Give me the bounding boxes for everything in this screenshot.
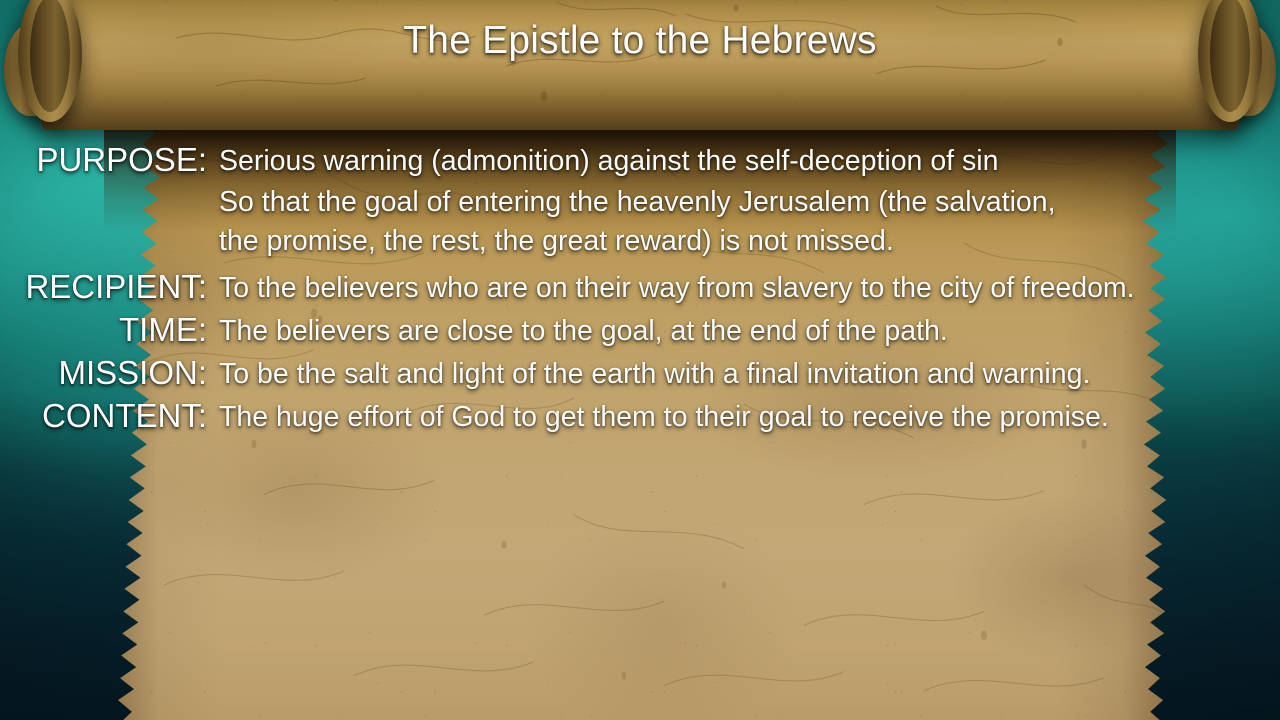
row-body-line: Serious warning (admonition) against the… bbox=[219, 142, 1240, 181]
row-purpose-continued: So that the goal of entering the heavenl… bbox=[0, 183, 1280, 261]
row-body-recipient: To the believers who are on their way fr… bbox=[216, 269, 1280, 308]
slide-title: The Epistle to the Hebrews bbox=[0, 19, 1280, 63]
row-body-line: To the believers who are on their way fr… bbox=[219, 269, 1240, 308]
row-body-mission: To be the salt and light of the earth wi… bbox=[216, 355, 1280, 394]
row-body-purpose-continued: So that the goal of entering the heavenl… bbox=[216, 183, 1280, 261]
content-rows: PURPOSE: Serious warning (admonition) ag… bbox=[0, 142, 1280, 436]
row-label-mission: MISSION: bbox=[0, 355, 216, 391]
row-body-line: The believers are close to the goal, at … bbox=[219, 312, 1240, 351]
row-purpose: PURPOSE: Serious warning (admonition) ag… bbox=[0, 142, 1280, 181]
row-label-recipient: RECIPIENT: bbox=[0, 269, 216, 305]
row-label-content: CONTENT: bbox=[0, 398, 216, 434]
row-body-line: So that the goal of entering the heavenl… bbox=[219, 183, 1240, 222]
row-body-line: To be the salt and light of the earth wi… bbox=[219, 355, 1240, 394]
row-body-purpose: Serious warning (admonition) against the… bbox=[216, 142, 1280, 181]
row-body-content: The huge effort of God to get them to th… bbox=[216, 398, 1280, 437]
row-body-line: the promise, the rest, the great reward)… bbox=[219, 222, 1240, 261]
row-time: TIME: The believers are close to the goa… bbox=[0, 312, 1280, 351]
slide-root: The Epistle to the Hebrews PURPOSE: Seri… bbox=[0, 0, 1280, 720]
row-label-time: TIME: bbox=[0, 312, 216, 348]
row-label-purpose: PURPOSE: bbox=[0, 142, 216, 178]
row-body-line: The huge effort of God to get them to th… bbox=[219, 398, 1240, 437]
row-recipient: RECIPIENT: To the believers who are on t… bbox=[0, 269, 1280, 308]
row-body-time: The believers are close to the goal, at … bbox=[216, 312, 1280, 351]
row-content: CONTENT: The huge effort of God to get t… bbox=[0, 398, 1280, 437]
row-mission: MISSION: To be the salt and light of the… bbox=[0, 355, 1280, 394]
